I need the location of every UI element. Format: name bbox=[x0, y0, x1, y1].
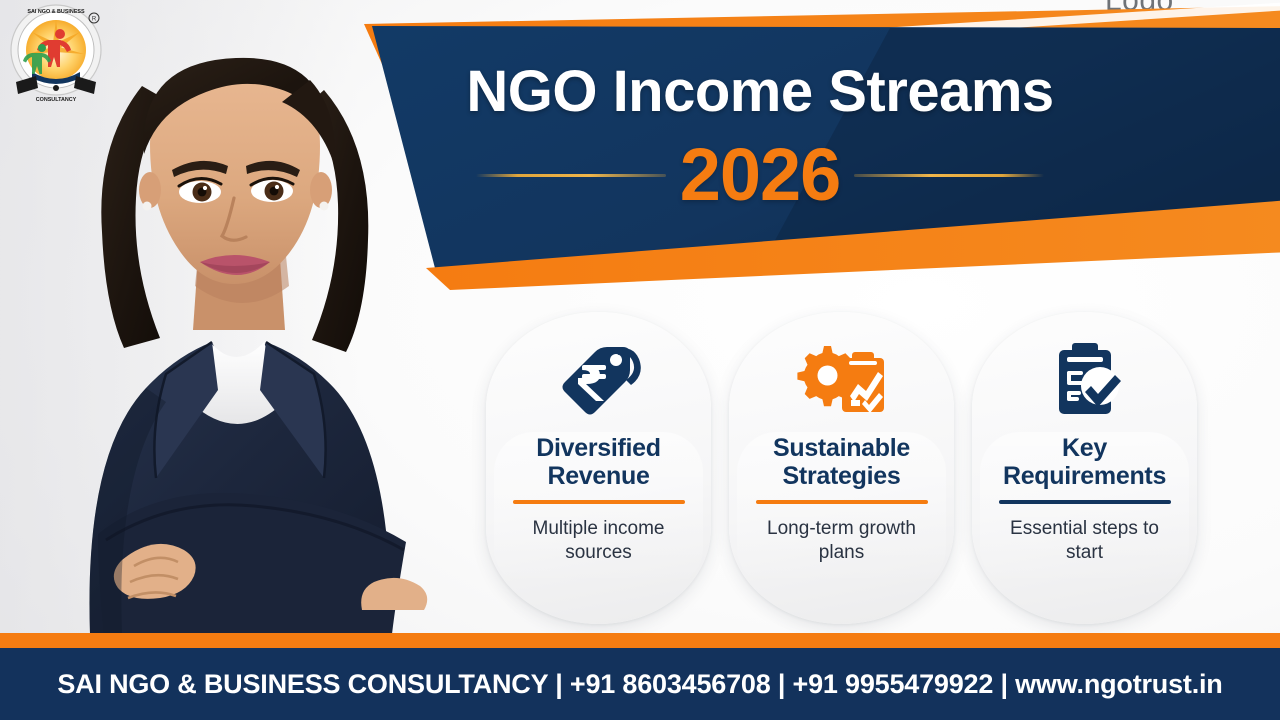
card-description: Multiple income sources bbox=[504, 517, 694, 566]
card-title: Key Requirements bbox=[985, 434, 1185, 490]
card-diversified-revenue[interactable]: Diversified Revenue Multiple income sour… bbox=[486, 312, 711, 624]
footer-contact-text: SAI NGO & BUSINESS CONSULTANCY | +91 860… bbox=[57, 669, 1222, 700]
title-banner: NGO Income Streams 2026 bbox=[330, 0, 1280, 290]
clipboard-check-icon bbox=[1037, 338, 1133, 424]
card-description: Long-term growth plans bbox=[747, 517, 937, 566]
price-tag-rupee-icon bbox=[551, 338, 647, 424]
gear-clipboard-chart-icon bbox=[794, 338, 890, 424]
feature-cards: Diversified Revenue Multiple income sour… bbox=[486, 312, 1198, 634]
card-description: Essential steps to start bbox=[990, 517, 1180, 566]
card-divider bbox=[999, 500, 1171, 504]
card-divider bbox=[513, 500, 685, 504]
card-title: Diversified Revenue bbox=[499, 434, 699, 490]
footer-bar: SAI NGO & BUSINESS CONSULTANCY | +91 860… bbox=[0, 648, 1280, 720]
card-divider bbox=[756, 500, 928, 504]
footer-accent-bar bbox=[0, 633, 1280, 648]
poster-canvas: SAI NGO & BUSINESS CONSULTANCY R Logo bbox=[0, 0, 1280, 720]
card-sustainable-strategies[interactable]: Sustainable Strategies Long-term growth … bbox=[729, 312, 954, 624]
card-key-requirements[interactable]: Key Requirements Essential steps to star… bbox=[972, 312, 1197, 624]
card-title: Sustainable Strategies bbox=[742, 434, 942, 490]
